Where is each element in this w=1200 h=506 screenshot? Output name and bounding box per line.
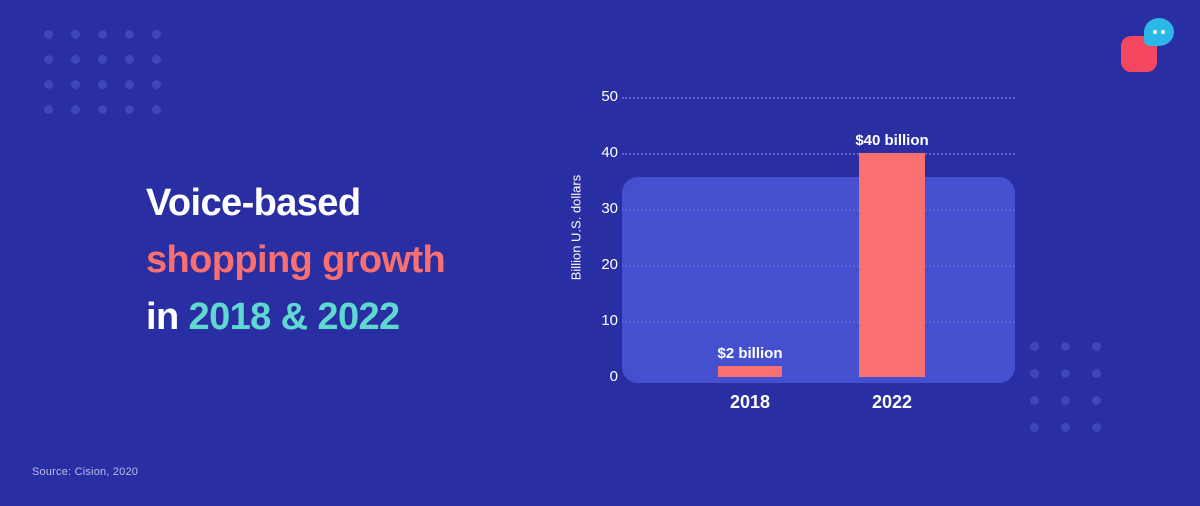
- y-tick-label-20: 20: [578, 256, 618, 273]
- y-tick-label-40: 40: [578, 144, 618, 161]
- decor-dot: [152, 30, 161, 39]
- decor-dot: [1092, 369, 1101, 378]
- decor-dot: [152, 80, 161, 89]
- source-note: Source: Cision, 2020: [32, 466, 138, 478]
- gridline-30: [622, 209, 1015, 211]
- decorative-dot-grid-bottom-right: [1030, 342, 1123, 450]
- headline-line-2: shopping growth: [146, 232, 546, 289]
- gridline-50: [622, 97, 1015, 99]
- decor-dot: [152, 105, 161, 114]
- decor-dot: [98, 105, 107, 114]
- bar-2018[interactable]: [718, 366, 782, 377]
- decor-dot: [71, 30, 80, 39]
- bubble-dot: [1153, 30, 1157, 34]
- headline-line-1: Voice-based: [146, 175, 546, 232]
- gridline-40: [622, 153, 1015, 155]
- decor-dot: [1092, 396, 1101, 405]
- decor-dot: [98, 30, 107, 39]
- decor-dot: [44, 55, 53, 64]
- chat-bubble-icon: [1144, 18, 1174, 46]
- decor-dot: [125, 80, 134, 89]
- bar-2022[interactable]: [859, 153, 925, 377]
- x-axis-label-2022: 2022: [872, 392, 912, 413]
- decor-dot: [1061, 369, 1070, 378]
- decor-dot: [1061, 396, 1070, 405]
- headline: Voice-based shopping growth in 2018 & 20…: [146, 175, 546, 346]
- bar-label-2018: $2 billion: [717, 345, 782, 362]
- decor-dot: [71, 55, 80, 64]
- decor-dot: [1061, 423, 1070, 432]
- bar-chart: Billion U.S. dollars 50 40 30 20 10 0 $2…: [556, 80, 1036, 430]
- decor-dot: [125, 55, 134, 64]
- decor-dot: [98, 80, 107, 89]
- decor-dot: [44, 105, 53, 114]
- bar-label-2022: $40 billion: [855, 132, 928, 149]
- y-tick-label-30: 30: [578, 200, 618, 217]
- decor-dot: [152, 55, 161, 64]
- headline-line-3: in 2018 & 2022: [146, 289, 546, 346]
- x-axis-label-2018: 2018: [730, 392, 770, 413]
- decor-dot: [1092, 342, 1101, 351]
- headline-line-3-prefix: in: [146, 296, 189, 338]
- y-axis-title: Billion U.S. dollars: [569, 158, 584, 298]
- decor-dot: [1061, 342, 1070, 351]
- y-tick-label-10: 10: [578, 312, 618, 329]
- decor-dot: [44, 80, 53, 89]
- y-tick-label-0: 0: [578, 368, 618, 385]
- decorative-dot-grid-top-left: [44, 30, 179, 130]
- brand-logo: [1118, 18, 1182, 74]
- headline-years: 2018 & 2022: [189, 296, 400, 338]
- decor-dot: [44, 30, 53, 39]
- y-tick-label-50: 50: [578, 88, 618, 105]
- decor-dot: [125, 30, 134, 39]
- decor-dot: [71, 105, 80, 114]
- gridline-20: [622, 265, 1015, 267]
- gridline-10: [622, 321, 1015, 323]
- bubble-dot: [1161, 30, 1165, 34]
- infographic-canvas: Voice-based shopping growth in 2018 & 20…: [0, 0, 1200, 506]
- decor-dot: [1092, 423, 1101, 432]
- decor-dot: [98, 55, 107, 64]
- decor-dot: [71, 80, 80, 89]
- plot-panel: [622, 177, 1015, 383]
- decor-dot: [125, 105, 134, 114]
